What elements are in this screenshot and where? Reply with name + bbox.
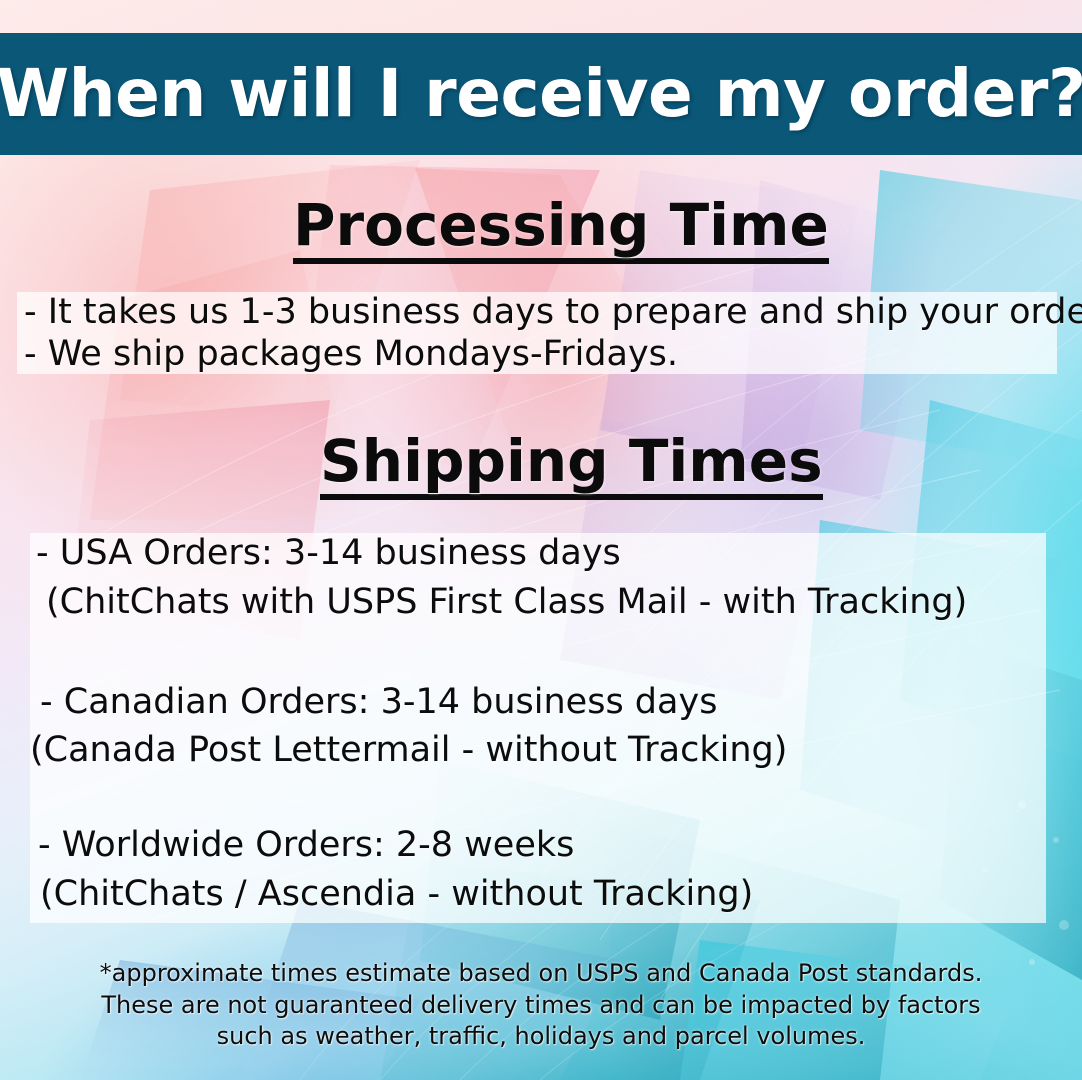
footnote-line-1: *approximate times estimate based on USP… bbox=[0, 958, 1082, 990]
usa-orders-line-2: (ChitChats with USPS First Class Mail - … bbox=[46, 582, 967, 623]
canadian-orders-line-2: (Canada Post Lettermail - without Tracki… bbox=[30, 730, 787, 771]
canadian-orders-line-1: - Canadian Orders: 3-14 business days bbox=[40, 682, 717, 723]
section-heading-processing-time-label: Processing Time bbox=[293, 191, 829, 259]
processing-line-1: - It takes us 1-3 business days to prepa… bbox=[24, 292, 1082, 333]
page-title: When will I receive my order? bbox=[0, 61, 1082, 127]
processing-line-2: - We ship packages Mondays-Fridays. bbox=[24, 334, 678, 375]
section-heading-shipping-times-label: Shipping Times bbox=[320, 427, 823, 495]
header-banner: When will I receive my order? bbox=[0, 33, 1082, 155]
section-heading-processing-time: Processing Time bbox=[293, 196, 829, 264]
usa-orders-line-1: - USA Orders: 3-14 business days bbox=[36, 533, 621, 574]
footnote-line-3: such as weather, traffic, holidays and p… bbox=[0, 1021, 1082, 1053]
footnote-line-2: These are not guaranteed delivery times … bbox=[0, 990, 1082, 1022]
infographic-canvas: When will I receive my order? Processing… bbox=[0, 0, 1082, 1080]
section-heading-shipping-times: Shipping Times bbox=[320, 432, 823, 500]
worldwide-orders-line-1: - Worldwide Orders: 2-8 weeks bbox=[38, 825, 574, 866]
footnote-disclaimer: *approximate times estimate based on USP… bbox=[0, 958, 1082, 1053]
worldwide-orders-line-2: (ChitChats / Ascendia - without Tracking… bbox=[40, 874, 753, 915]
